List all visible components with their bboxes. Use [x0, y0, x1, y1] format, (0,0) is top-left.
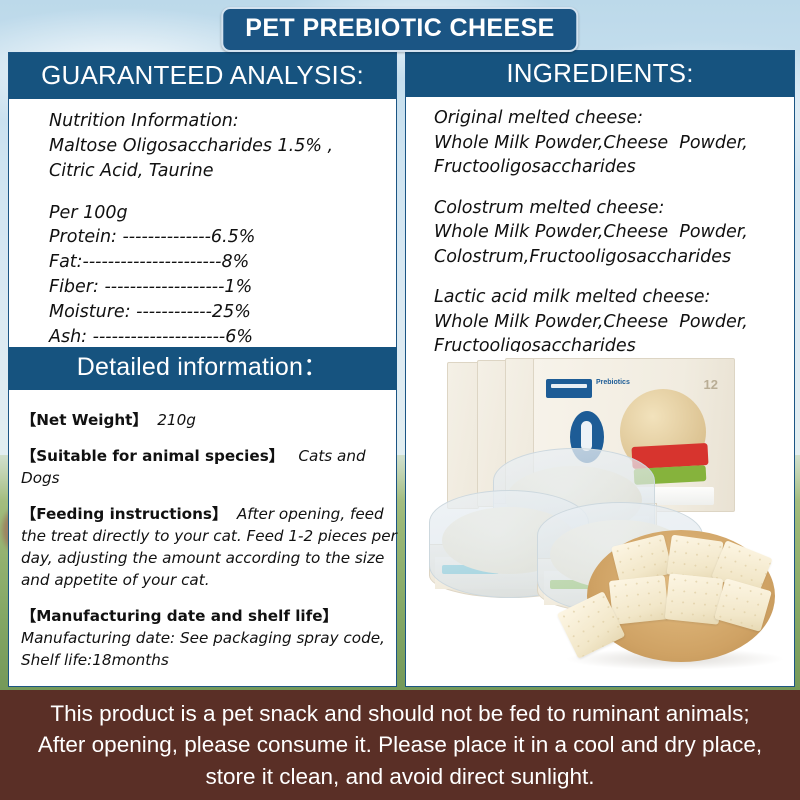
ingredient-block: Original melted cheese: Whole Milk Powde… — [434, 106, 784, 180]
warning-text: This product is a pet snack and should n… — [0, 698, 800, 791]
species-item: 【Suitable for animal species】 Cats and D… — [21, 445, 408, 489]
ingredients-body: Original melted cheese: Whole Milk Powde… — [406, 97, 794, 379]
manufacturing-label: 【Manufacturing date and shelf life】 — [21, 605, 408, 627]
shelf-life: Shelf life:18months — [21, 649, 408, 671]
ash-row: Ash: ---------------------6% — [49, 325, 382, 350]
species-label: 【Suitable for animal species】 — [21, 447, 284, 465]
nutrition-info-line-3: Citric Acid, Taurine — [49, 159, 382, 184]
detailed-information-header: Detailed information： — [8, 347, 397, 390]
guaranteed-analysis-body: Nutrition Information: Maltose Oligosacc… — [9, 99, 396, 358]
net-weight-item: 【Net Weight】 210g — [21, 409, 408, 431]
nutrition-info-line-2: Maltose Oligosaccharides 1.5% , — [49, 134, 382, 159]
fiber-row: Fiber: -------------------1% — [49, 275, 382, 300]
ingredient-block: Lactic acid milk melted cheese: Whole Mi… — [434, 285, 784, 359]
box-quantity-label: 12 — [704, 377, 718, 392]
manufacturing-item: 【Manufacturing date and shelf life】 Manu… — [21, 605, 408, 671]
cheese-wedge — [609, 575, 669, 625]
brand-logo — [546, 379, 592, 398]
warning-banner: This product is a pet snack and should n… — [0, 690, 800, 800]
protein-row: Protein: --------------6.5% — [49, 225, 382, 250]
ingredient-line: Fructooligosaccharides — [434, 155, 784, 180]
manufacturing-date: Manufacturing date: See packaging spray … — [21, 627, 408, 649]
net-weight-label: 【Net Weight】 — [21, 411, 148, 429]
ingredient-line: Whole Milk Powder,Cheese Powder, — [434, 220, 784, 245]
ingredient-block: Colostrum melted cheese: Whole Milk Powd… — [434, 196, 784, 270]
spacer — [49, 184, 382, 201]
fat-row: Fat:----------------------8% — [49, 250, 382, 275]
feeding-label: 【Feeding instructions】 — [21, 505, 227, 523]
guaranteed-analysis-header: GUARANTEED ANALYSIS: — [9, 53, 396, 99]
net-weight-value: 210g — [157, 411, 196, 429]
detailed-information-body: 【Net Weight】 210g 【Suitable for animal s… — [9, 397, 420, 689]
feeding-item: 【Feeding instructions】 After opening, fe… — [21, 503, 408, 591]
product-box-stack — [447, 362, 479, 509]
ingredient-line: Whole Milk Powder,Cheese Powder, — [434, 131, 784, 156]
ingredient-name: Colostrum melted cheese: — [434, 196, 784, 221]
cheese-holes — [609, 575, 669, 625]
brand-name-label: Prebiotics — [596, 378, 630, 389]
ingredients-header: INGREDIENTS: — [406, 51, 794, 97]
page-title: PET PREBIOTIC CHEESE — [221, 7, 578, 52]
guaranteed-analysis-panel: GUARANTEED ANALYSIS: Nutrition Informati… — [8, 52, 397, 687]
product-photo: Prebiotics 12 — [415, 352, 785, 682]
ingredient-name: Lactic acid milk melted cheese: — [434, 285, 784, 310]
ingredient-name: Original melted cheese: — [434, 106, 784, 131]
moisture-row: Moisture: ------------25% — [49, 300, 382, 325]
per-100g-label: Per 100g — [49, 201, 382, 226]
ingredient-line: Colostrum,Fructooligosaccharides — [434, 245, 784, 270]
nutrition-info-title: Nutrition Information: — [49, 109, 382, 134]
ingredient-line: Whole Milk Powder,Cheese Powder, — [434, 310, 784, 335]
